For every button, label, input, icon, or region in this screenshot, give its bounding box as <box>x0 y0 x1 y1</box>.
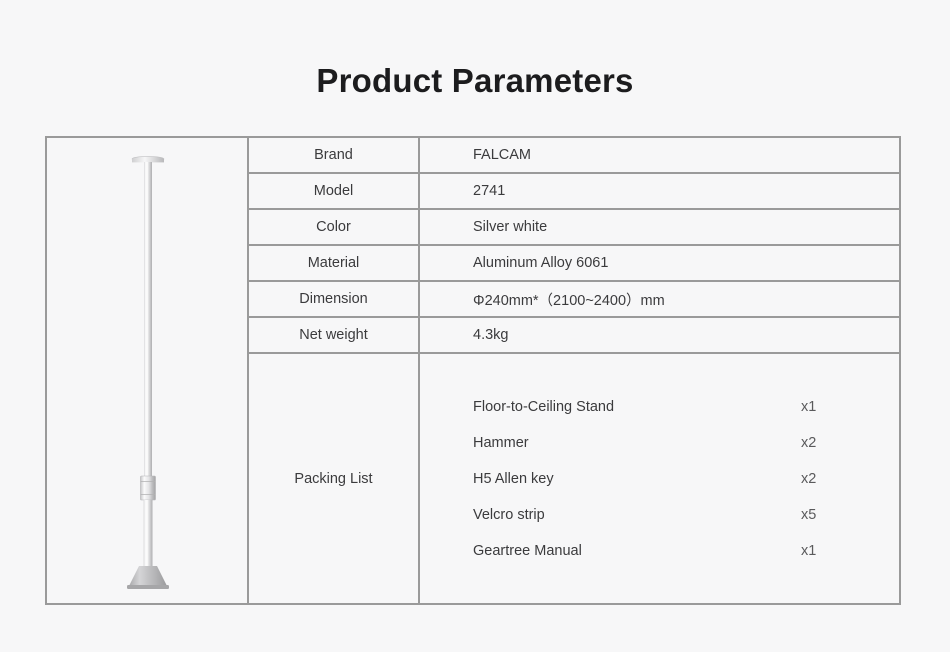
list-item: Hammer x2 <box>473 425 861 461</box>
page-title: Product Parameters <box>0 62 950 100</box>
base-cone-icon <box>129 566 167 586</box>
table-row: Material Aluminum Alloy 6061 <box>249 246 899 282</box>
collar-groove-bottom <box>141 494 156 495</box>
pole-lower-highlight <box>146 500 147 566</box>
spec-value-dimension: Φ240mm*（2100~2400）mm <box>420 282 899 316</box>
table-row: Color Silver white <box>249 210 899 246</box>
spec-label-material: Material <box>249 246 420 280</box>
floor-to-ceiling-stand-illustration <box>47 138 249 603</box>
pole-lower-section <box>144 500 153 566</box>
packing-item-qty: x1 <box>801 399 861 415</box>
packing-item-qty: x2 <box>801 471 861 487</box>
packing-list-row: Packing List Floor-to-Ceiling Stand x1 H… <box>249 354 899 603</box>
specification-rows: Brand FALCAM Model 2741 Color Silver whi… <box>249 138 899 603</box>
list-item: H5 Allen key x2 <box>473 461 861 497</box>
product-image-cell <box>47 138 249 603</box>
spec-label-brand: Brand <box>249 138 420 172</box>
list-item: Velcro strip x5 <box>473 497 861 533</box>
table-grid: Brand FALCAM Model 2741 Color Silver whi… <box>47 138 899 603</box>
list-item: Floor-to-Ceiling Stand x1 <box>473 389 861 425</box>
list-item: Geartree Manual x1 <box>473 533 861 569</box>
packing-item-name: H5 Allen key <box>473 471 801 487</box>
product-parameters-page: Product Parameters <box>0 0 950 652</box>
ceiling-plate-body <box>132 159 164 162</box>
spec-value-brand: FALCAM <box>420 138 899 172</box>
spec-label-net-weight: Net weight <box>249 318 420 352</box>
spec-label-dimension: Dimension <box>249 282 420 316</box>
pole-upper-section <box>144 162 152 484</box>
packing-item-qty: x5 <box>801 507 861 523</box>
spec-value-material: Aluminum Alloy 6061 <box>420 246 899 280</box>
spec-label-color: Color <box>249 210 420 244</box>
packing-item-qty: x1 <box>801 543 861 559</box>
spec-label-packing-list: Packing List <box>249 354 420 603</box>
table-row: Net weight 4.3kg <box>249 318 899 354</box>
spec-label-model: Model <box>249 174 420 208</box>
packing-item-name: Geartree Manual <box>473 543 801 559</box>
packing-item-name: Floor-to-Ceiling Stand <box>473 399 801 415</box>
collar-groove-top <box>141 481 156 482</box>
specification-table: Brand FALCAM Model 2741 Color Silver whi… <box>45 136 901 605</box>
packing-item-name: Hammer <box>473 435 801 451</box>
collar-joint-icon <box>141 476 156 500</box>
table-row: Brand FALCAM <box>249 138 899 174</box>
packing-item-qty: x2 <box>801 435 861 451</box>
base-foot-pad <box>127 585 169 589</box>
spec-value-color: Silver white <box>420 210 899 244</box>
packing-list-items: Floor-to-Ceiling Stand x1 Hammer x2 H5 A… <box>420 354 899 603</box>
spec-value-net-weight: 4.3kg <box>420 318 899 352</box>
pole-upper-highlight <box>147 162 148 484</box>
table-row: Model 2741 <box>249 174 899 210</box>
spec-value-model: 2741 <box>420 174 899 208</box>
packing-item-name: Velcro strip <box>473 507 801 523</box>
table-row: Dimension Φ240mm*（2100~2400）mm <box>249 282 899 318</box>
